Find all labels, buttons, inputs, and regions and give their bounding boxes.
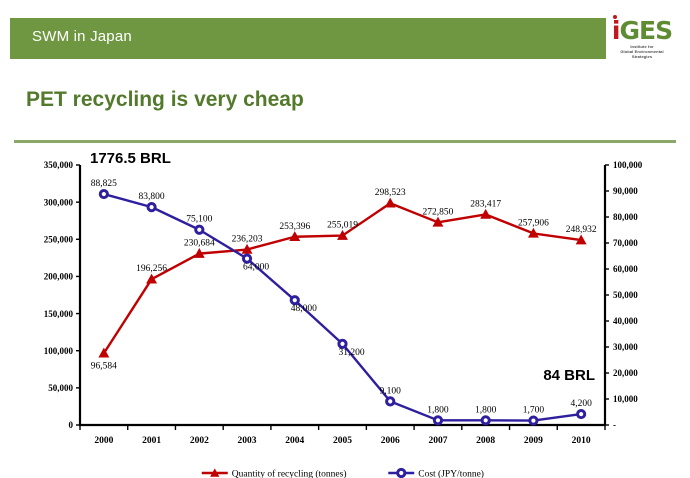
right-axis-tick-label: 70,000 [613, 238, 638, 248]
left-axis-tick-label: 100,000 [44, 346, 74, 356]
x-axis-tick-label: 2004 [285, 436, 304, 446]
series-marker-1 [482, 417, 489, 424]
series-marker-1 [434, 417, 441, 424]
left-axis-tick-label: 350,000 [44, 160, 74, 170]
left-axis-tick-label: 0 [69, 420, 74, 430]
right-axis-tick-label: 90,000 [613, 186, 638, 196]
left-axis-tick-label: 300,000 [44, 197, 74, 207]
series-data-label-0: 248,932 [566, 225, 597, 235]
left-axis-tick-label: 150,000 [44, 309, 74, 319]
x-axis-tick-label: 2008 [476, 436, 495, 446]
right-axis-tick-label: 60,000 [613, 264, 638, 274]
legend-label-0: Quantity of recycling (tonnes) [232, 468, 347, 478]
callout-top-left: 1776.5 BRL [90, 150, 171, 167]
x-axis-tick-label: 2000 [94, 436, 113, 446]
series-data-label-1: 88,825 [91, 179, 117, 189]
series-marker-0 [386, 199, 395, 207]
x-axis-tick-label: 2006 [381, 436, 400, 446]
header-title: SWM in Japan [32, 28, 132, 45]
series-data-label-1: 83,800 [139, 192, 165, 202]
right-axis-tick-label: 40,000 [613, 316, 638, 326]
right-axis-tick-label: 30,000 [613, 342, 638, 352]
x-axis-tick-label: 2002 [190, 436, 209, 446]
chart-axes [80, 165, 605, 425]
series-data-label-1: 9,100 [380, 386, 402, 396]
legend-swatch-marker-1 [398, 469, 405, 476]
series-marker-1 [196, 226, 203, 233]
iges-logo: iGES Institute for Global Environmental … [606, 12, 678, 62]
series-marker-1 [291, 297, 298, 304]
series-marker-1 [100, 190, 107, 197]
series-data-label-0: 230,684 [184, 239, 215, 249]
left-axis-tick-label: 50,000 [48, 383, 73, 393]
callout-bottom-right: 84 BRL [543, 367, 595, 384]
series-data-label-0: 196,256 [136, 264, 167, 274]
x-axis-tick-label: 2001 [142, 436, 161, 446]
series-marker-1 [339, 340, 346, 347]
series-data-label-1: 64,000 [243, 263, 269, 273]
right-axis-tick-label: 80,000 [613, 212, 638, 222]
line-chart: 050,000100,000150,000200,000250,000300,0… [0, 148, 690, 478]
x-axis-tick-label: 2003 [238, 436, 257, 446]
series-data-label-0: 283,417 [470, 199, 501, 209]
series-data-label-0: 255,019 [327, 221, 358, 231]
logo-letters-ges: GES [619, 16, 672, 45]
page-title: PET recycling is very cheap [26, 88, 304, 112]
series-data-label-0: 253,396 [279, 222, 310, 232]
series-data-label-1: 1,800 [427, 405, 449, 415]
series-data-label-0: 298,523 [375, 188, 406, 198]
x-axis-tick-label: 2009 [524, 436, 543, 446]
x-axis-tick-label: 2007 [428, 436, 447, 446]
series-data-label-0: 96,584 [91, 361, 117, 371]
series-data-label-0: 272,850 [423, 207, 454, 217]
logo-subtitle-line3: Strategies [606, 54, 678, 59]
x-axis-tick-label: 2005 [333, 436, 352, 446]
series-data-label-1: 75,100 [186, 215, 212, 225]
right-axis-tick-label: 10,000 [613, 394, 638, 404]
series-data-label-0: 236,203 [232, 235, 263, 245]
left-axis-tick-label: 200,000 [44, 272, 74, 282]
right-axis-tick-label: 20,000 [613, 368, 638, 378]
series-marker-1 [243, 255, 250, 262]
slide-header-bar: SWM in Japan [10, 18, 664, 59]
right-axis-tick-label: 100,000 [613, 160, 643, 170]
logo-wordmark: iGES [606, 17, 678, 44]
series-marker-1 [578, 410, 585, 417]
right-axis-tick-label: - [613, 420, 616, 430]
left-axis-tick-label: 250,000 [44, 234, 74, 244]
chart-container: 050,000100,000150,000200,000250,000300,0… [0, 148, 690, 478]
series-data-label-1: 48,000 [291, 304, 317, 314]
logo-dot-icon [613, 15, 617, 19]
right-axis-tick-label: 50,000 [613, 290, 638, 300]
title-divider [14, 140, 676, 143]
series-marker-1 [530, 417, 537, 424]
series-data-label-0: 257,906 [518, 218, 549, 228]
series-data-label-1: 1,700 [523, 406, 545, 416]
series-data-label-1: 1,800 [475, 405, 497, 415]
series-data-label-1: 4,200 [570, 399, 592, 409]
series-data-label-1: 31,200 [338, 348, 364, 358]
legend-label-1: Cost (JPY/tonne) [418, 468, 484, 478]
series-marker-1 [387, 398, 394, 405]
x-axis-tick-label: 2010 [572, 436, 591, 446]
series-marker-1 [148, 204, 155, 211]
